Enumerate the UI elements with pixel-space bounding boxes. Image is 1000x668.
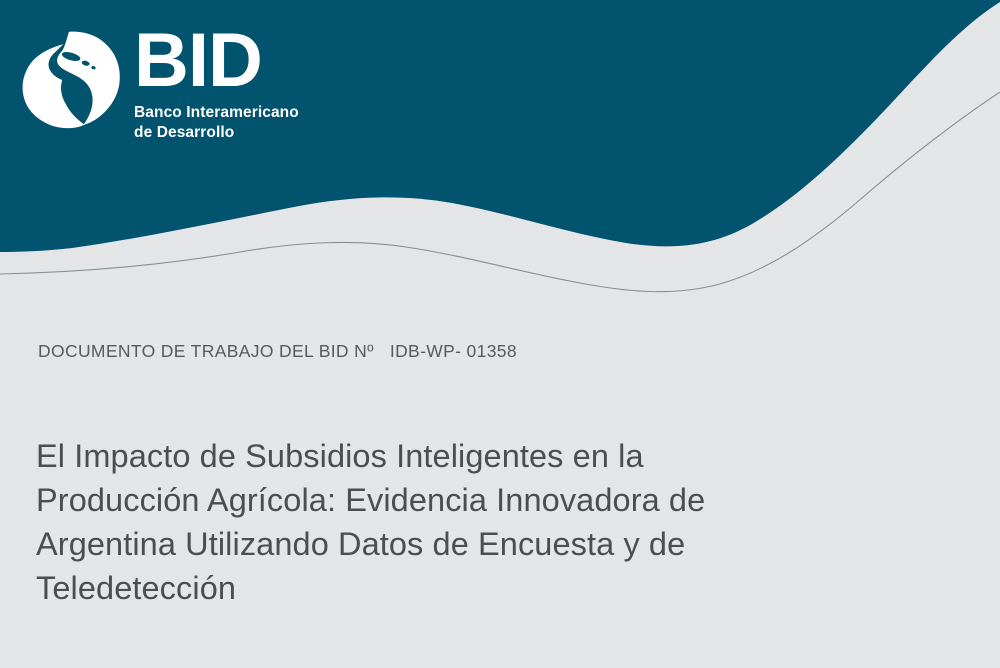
idb-wordmark: BID [134, 26, 299, 96]
document-number-label: DOCUMENTO DE TRABAJO DEL BID Nº [38, 341, 374, 362]
idb-logo-text-block: BID Banco Interamericano de Desarrollo [134, 22, 299, 143]
idb-tagline: Banco Interamericano de Desarrollo [134, 103, 299, 143]
idb-logo-lockup: BID Banco Interamericano de Desarrollo [14, 22, 299, 143]
document-number-row: DOCUMENTO DE TRABAJO DEL BID Nº IDB-WP- … [38, 341, 517, 362]
document-title-line-2: Producción Agrícola: Evidencia Innovador… [36, 478, 916, 522]
document-title-line-4: Teledetección [36, 566, 916, 610]
cover-page: BID Banco Interamericano de Desarrollo D… [0, 0, 1000, 668]
document-number-value: IDB-WP- 01358 [390, 341, 517, 362]
idb-tagline-line-2: de Desarrollo [134, 123, 299, 143]
idb-globe-emblem-icon [14, 24, 126, 136]
document-title: El Impacto de Subsidios Inteligentes en … [36, 434, 916, 610]
document-title-line-3: Argentina Utilizando Datos de Encuesta y… [36, 522, 916, 566]
idb-tagline-line-1: Banco Interamericano [134, 103, 299, 123]
document-title-line-1: El Impacto de Subsidios Inteligentes en … [36, 434, 916, 478]
